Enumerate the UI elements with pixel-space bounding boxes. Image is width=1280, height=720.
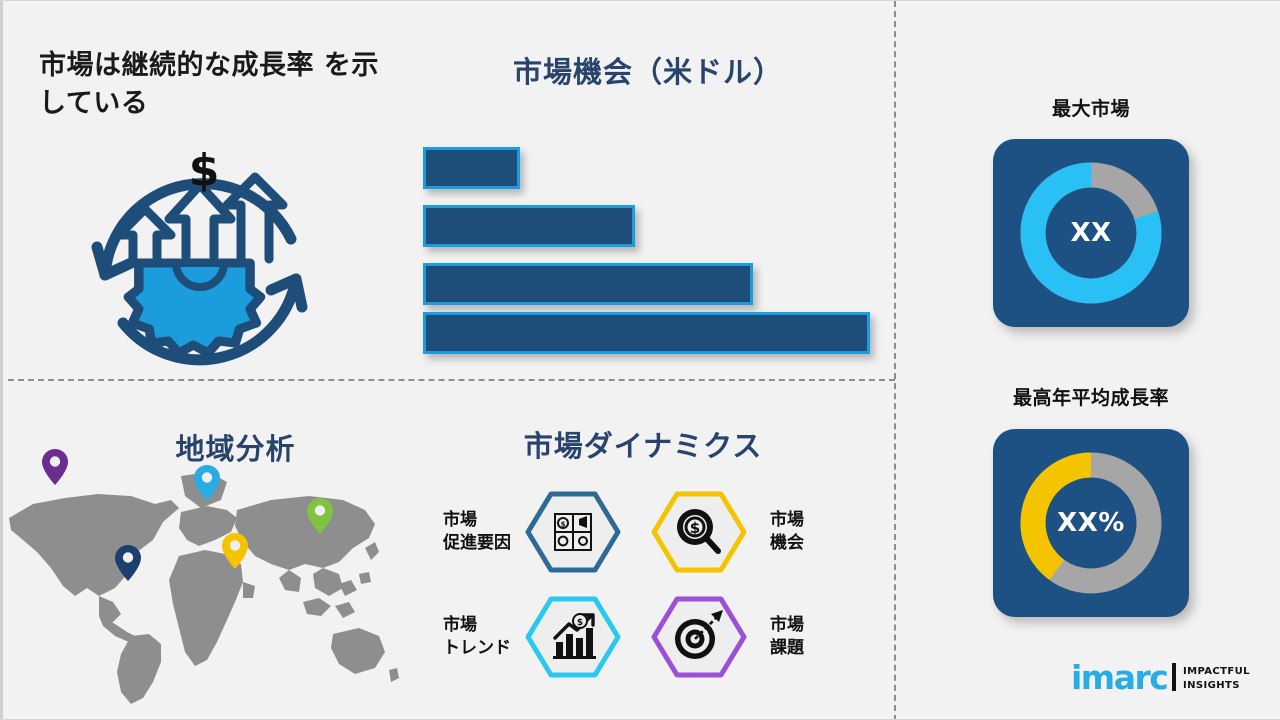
- largest-market-title: 最大市場: [963, 94, 1219, 121]
- logo-wordmark: imarc: [1071, 661, 1167, 694]
- logo-divider-bar: [1172, 663, 1176, 691]
- pin-middle-east-africa: [221, 532, 249, 570]
- dynamics-item-opportunities-label: 市場 機会: [770, 509, 804, 555]
- svg-text:$: $: [561, 521, 566, 529]
- logo-tagline: IMPACTFUL INSIGHTS: [1183, 665, 1250, 692]
- dollar-symbol: $: [189, 145, 220, 196]
- opportunity-panel-title: 市場機会（米ドル）: [423, 49, 873, 91]
- pin-asia-pacific: [306, 497, 334, 535]
- world-map: [3, 456, 403, 706]
- vertical-divider: [894, 1, 896, 720]
- dynamics-item-challenges-label: 市場 課題: [770, 614, 804, 660]
- growth-panel-title: 市場は継続的な成長率 を示している: [39, 47, 389, 124]
- bar-3: [423, 263, 753, 305]
- dynamics-item-drivers-label: 市場 促進要因: [443, 509, 511, 555]
- pin-latin-america: [114, 544, 142, 582]
- dynamics-item-trends-label: 市場 トレンド: [443, 614, 511, 660]
- dollar-target-search-icon: $: [651, 491, 747, 573]
- svg-text:$: $: [690, 519, 700, 537]
- puzzle-pieces-icon: $: [525, 491, 621, 573]
- dynamics-item-challenges[interactable]: 市場 課題: [651, 596, 866, 678]
- hexagon-trends: $: [525, 596, 621, 678]
- growth-bar-chart-icon: $: [525, 596, 621, 678]
- dynamics-panel-title: 市場ダイナミクス: [423, 423, 863, 465]
- pin-europe: [193, 464, 221, 502]
- dynamics-item-drivers[interactable]: 市場 促進要因 $: [415, 491, 630, 573]
- highest-cagr-title: 最高年平均成長率: [953, 383, 1229, 410]
- dartboard-target-icon: [651, 596, 747, 678]
- pin-north-america: [41, 448, 69, 486]
- largest-market-card: XX: [993, 139, 1189, 327]
- highest-cagr-value: XX%: [993, 429, 1189, 617]
- hexagon-drivers: $: [525, 491, 621, 573]
- largest-market-value: XX: [993, 139, 1189, 327]
- dynamics-item-trends[interactable]: 市場 トレンド $: [415, 596, 630, 678]
- highest-cagr-card: XX%: [993, 429, 1189, 617]
- svg-text:$: $: [577, 618, 583, 628]
- imarc-logo[interactable]: imarc IMPACTFUL INSIGHTS: [1071, 659, 1266, 703]
- horizontal-divider: [8, 379, 895, 381]
- hexagon-challenges: [651, 596, 747, 678]
- bar-1: [423, 147, 520, 189]
- infographic-slide: 市場は継続的な成長率 を示している $: [0, 0, 1280, 720]
- bar-2: [423, 205, 635, 247]
- opportunity-bar-chart: [423, 147, 883, 357]
- bar-4: [423, 312, 870, 354]
- dynamics-item-opportunities[interactable]: $ 市場 機会: [651, 491, 866, 573]
- growth-cycle-gear-icon: $: [75, 127, 325, 367]
- hexagon-opportunities: $: [651, 491, 747, 573]
